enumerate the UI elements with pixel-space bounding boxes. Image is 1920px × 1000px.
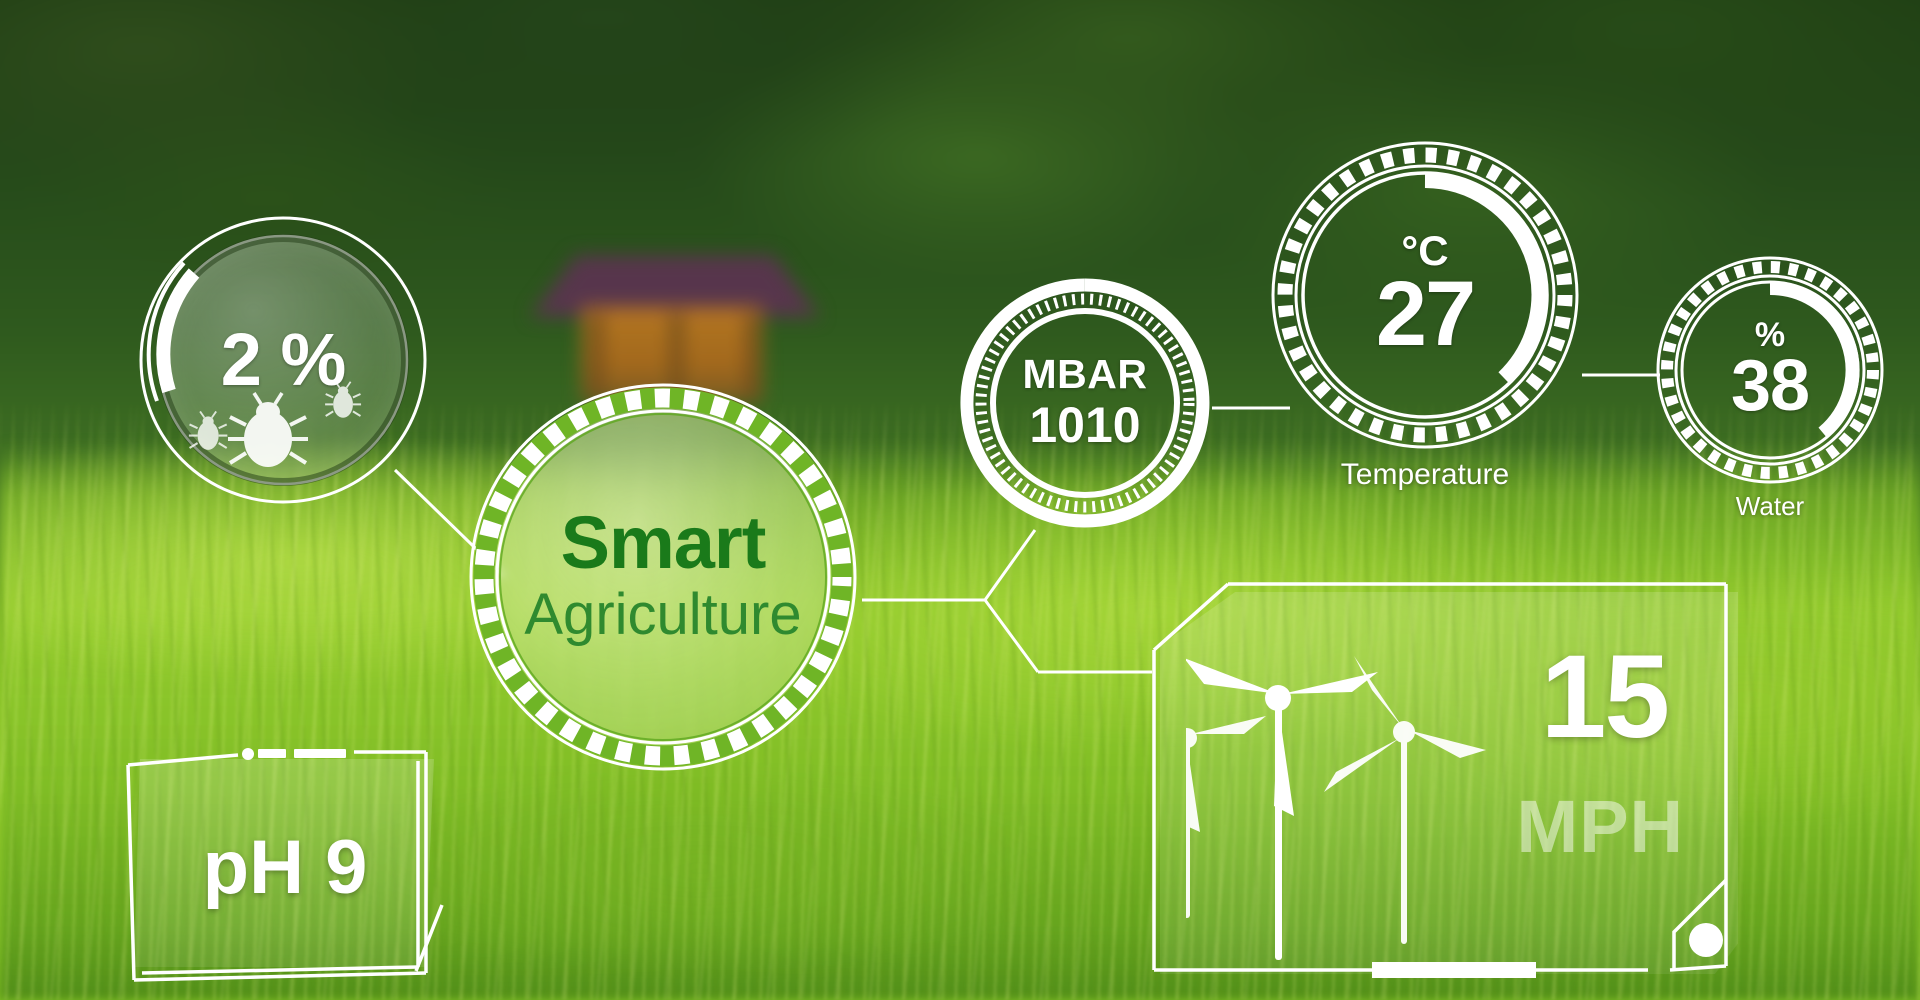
smart-node-text: Smart Agriculture — [468, 382, 858, 772]
smart-agriculture-node[interactable]: Smart Agriculture — [468, 382, 858, 772]
insects-icon — [188, 387, 378, 473]
water-gauge[interactable]: % 38 Water — [1655, 255, 1885, 485]
pest-value: 2 % — [221, 323, 346, 397]
water-value: 38 — [1731, 350, 1809, 422]
ph-value: pH 9 — [120, 745, 450, 990]
pressure-readout: MBAR 1010 — [960, 278, 1210, 528]
temperature-value: 27 — [1376, 268, 1474, 360]
brand-line-1: Smart — [561, 506, 766, 580]
pressure-value: 1010 — [1029, 399, 1140, 452]
pressure-unit: MBAR — [1023, 354, 1148, 395]
water-readout: % 38 — [1655, 255, 1885, 485]
pressure-gauge[interactable]: MBAR 1010 — [960, 278, 1210, 528]
water-label: Water — [1736, 491, 1804, 522]
pest-gauge[interactable]: 2 % — [138, 215, 428, 505]
brand-line-2: Agriculture — [524, 582, 801, 649]
wind-speed-unit: MPH — [1517, 790, 1684, 864]
hud-overlay: 2 % — [0, 0, 1920, 1000]
ph-panel[interactable]: pH 9 — [120, 745, 450, 990]
wind-speed-value: 15 — [1541, 638, 1668, 756]
temperature-readout: °C 27 — [1270, 140, 1580, 450]
wind-turbine-icon — [1186, 620, 1516, 960]
temperature-label: Temperature — [1341, 458, 1509, 492]
temperature-gauge[interactable]: °C 27 Temperature — [1270, 140, 1580, 450]
wind-panel[interactable]: 15 MPH — [1150, 580, 1750, 995]
smart-agriculture-dashboard: 2 % — [0, 0, 1920, 1000]
